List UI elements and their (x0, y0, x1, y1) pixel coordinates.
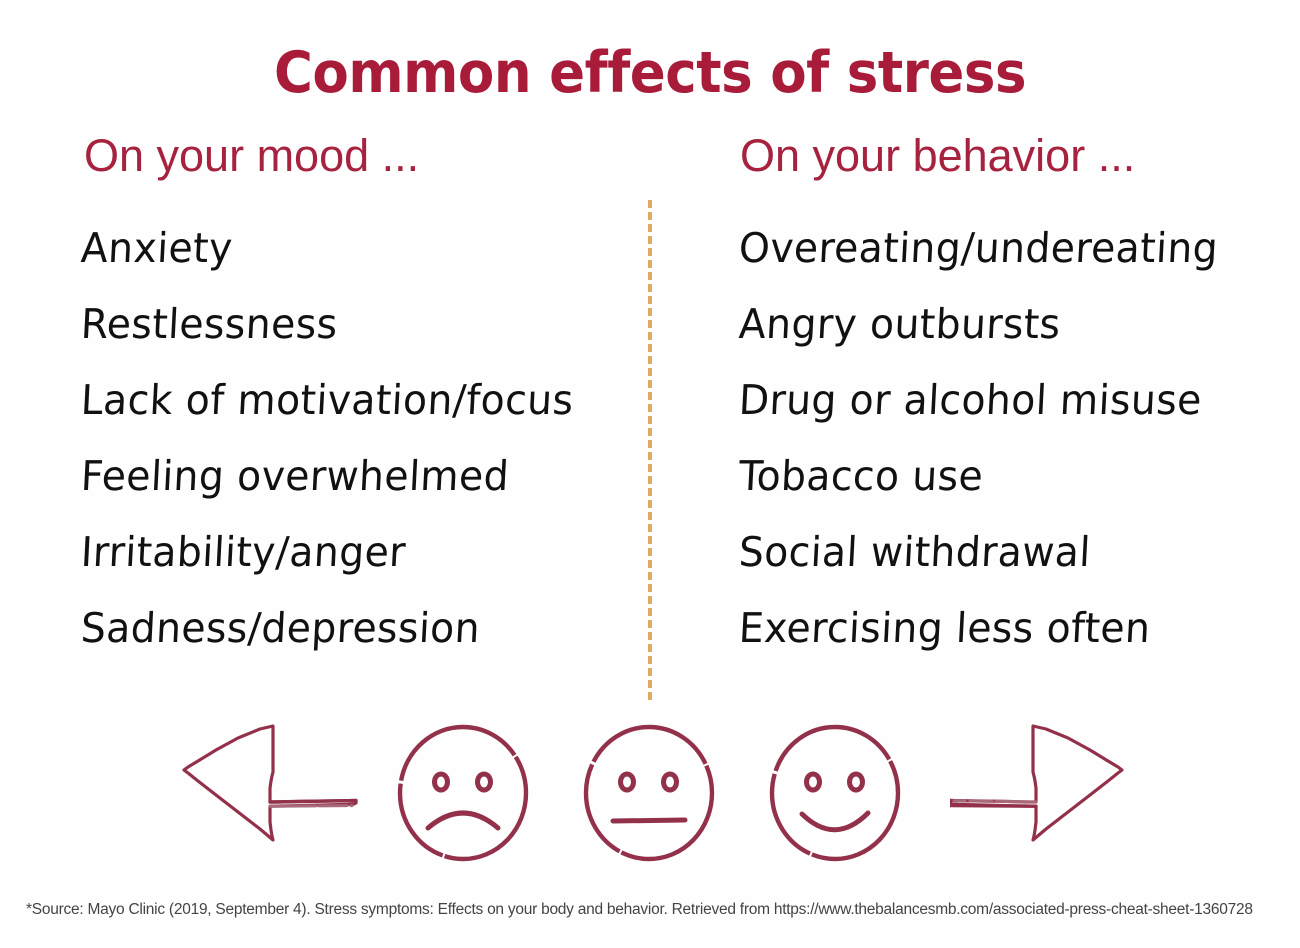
arrow-right-icon (950, 706, 1190, 871)
list-item: Drug or alcohol misuse (736, 380, 1239, 456)
mood-scale-icon-row (0, 706, 1300, 886)
list-item: Overeating/undereating (736, 228, 1239, 304)
list-item: Angry outbursts (736, 304, 1239, 380)
sad-face-icon (388, 706, 538, 881)
source-citation: *Source: Mayo Clinic (2019, September 4)… (26, 901, 1286, 920)
list-item: Feeling overwhelmed (78, 456, 600, 532)
arrow-left-icon (120, 706, 360, 871)
list-item: Sadness/depression (78, 608, 600, 684)
list-item: Lack of motivation/focus (78, 380, 600, 456)
list-item: Anxiety (78, 228, 600, 304)
happy-face-icon (760, 706, 910, 881)
page-title: Common effects of stress (46, 44, 1255, 104)
column-heading-mood: On your mood ... (84, 133, 419, 178)
list-item: Social withdrawal (736, 532, 1239, 608)
behavior-effects-list: Overeating/undereating Angry outbursts D… (738, 228, 1258, 684)
mood-effects-list: Anxiety Restlessness Lack of motivation/… (80, 228, 620, 684)
column-heading-behavior: On your behavior ... (740, 133, 1135, 178)
infographic-canvas: Common effects of stress On your mood ..… (0, 0, 1300, 948)
neutral-face-icon (574, 706, 724, 881)
list-item: Tobacco use (736, 456, 1239, 532)
list-item: Irritability/anger (78, 532, 600, 608)
list-item: Restlessness (78, 304, 600, 380)
list-item: Exercising less often (736, 608, 1239, 684)
column-divider (648, 200, 652, 700)
